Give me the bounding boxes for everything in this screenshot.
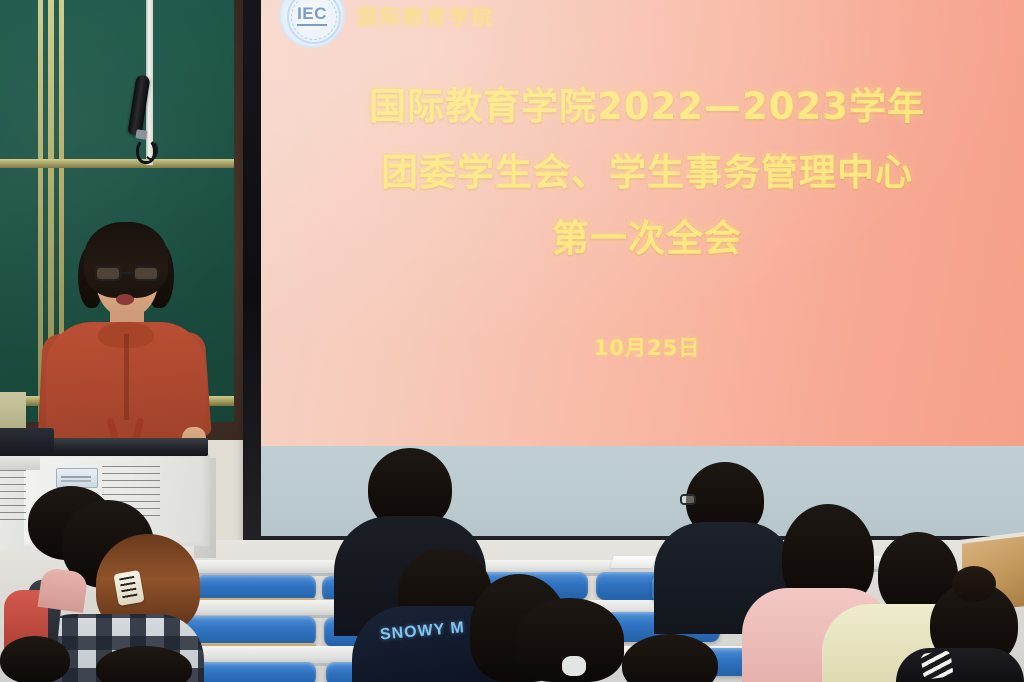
- presenter-hair: [84, 222, 168, 298]
- chalkboard-rail-horizontal: [0, 159, 234, 168]
- seat: [186, 616, 316, 646]
- presenter-mouth: [116, 294, 134, 305]
- paper-on-desk: [610, 556, 656, 568]
- logo-caption: 国际教育学院: [357, 1, 495, 30]
- left-table: [0, 456, 40, 470]
- presenter: [40, 222, 210, 452]
- podium-label-plate: [56, 468, 98, 488]
- logo-mark-text: IEC: [297, 5, 327, 26]
- podium-vent-left: [0, 470, 26, 524]
- student-head: [0, 636, 70, 682]
- iec-logo: IEC: [279, 0, 351, 48]
- student-face-mask: [562, 656, 586, 676]
- pink-garment: [37, 567, 88, 613]
- projection-screen: IEC 国际教育学院 国际教育学院2022—2023学年 团委学生会、学生事务管…: [261, 0, 1024, 536]
- classroom-photo: IEC 国际教育学院 国际教育学院2022—2023学年 团委学生会、学生事务管…: [0, 0, 1024, 682]
- glasses-bridge: [121, 272, 133, 274]
- glasses-lens-right: [133, 266, 159, 281]
- presentation-slide: IEC 国际教育学院 国际教育学院2022—2023学年 团委学生会、学生事务管…: [261, 0, 1024, 536]
- student-collar-stripe: [920, 650, 953, 680]
- glasses-icon: [94, 266, 160, 281]
- student-hair-bun: [952, 566, 996, 602]
- student-glasses-icon: [680, 494, 696, 505]
- podium-top-surface: [30, 438, 208, 456]
- slide-title-line-1: 国际教育学院2022—2023学年: [261, 74, 1024, 140]
- seal-icon: IEC: [279, 0, 345, 48]
- left-monitor: [0, 428, 54, 456]
- projection-screen-frame: IEC 国际教育学院 国际教育学院2022—2023学年 团委学生会、学生事务管…: [243, 0, 1024, 550]
- slide-title: 国际教育学院2022—2023学年 团委学生会、学生事务管理中心 第一次全会: [261, 74, 1024, 272]
- slide-title-line-2: 团委学生会、学生事务管理中心: [261, 140, 1024, 206]
- glasses-lens-left: [95, 266, 121, 281]
- microphone-cord-loop: [144, 140, 158, 160]
- slide-date: 10月25日: [261, 332, 1024, 362]
- student-body: [896, 648, 1024, 682]
- presenter-placket: [124, 334, 129, 420]
- slide-title-line-3: 第一次全会: [261, 206, 1024, 272]
